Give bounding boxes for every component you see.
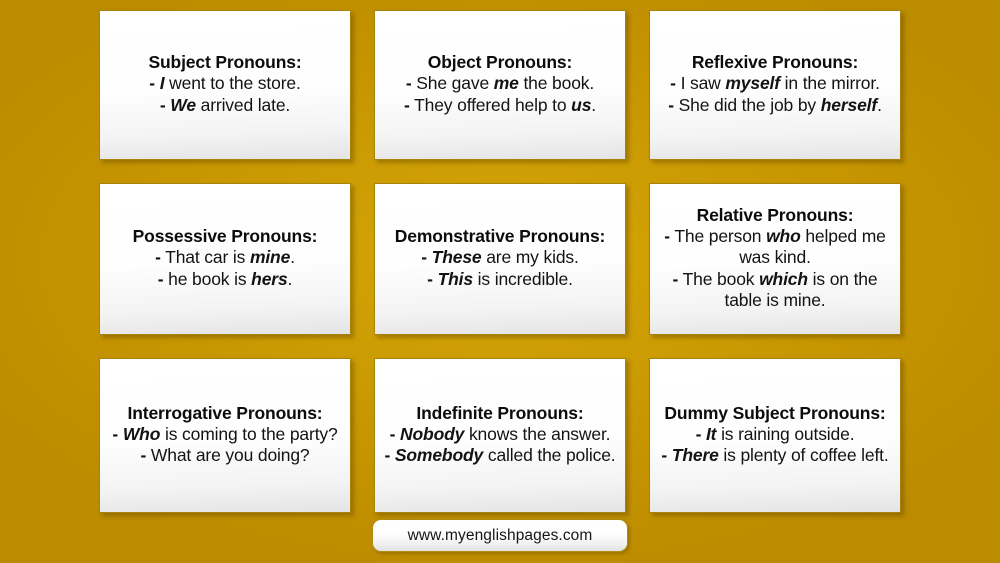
card-title: Reflexive Pronouns: — [692, 52, 858, 72]
card-example-line: - Nobody knows the answer. — [382, 424, 618, 445]
bullet-dash: - — [670, 73, 676, 93]
card-example-line: - She gave me the book. — [382, 73, 618, 94]
example-text: is coming to the party? — [160, 424, 337, 444]
emphasized-pronoun: us — [571, 95, 591, 115]
bullet-dash: - — [158, 269, 164, 289]
card-example-line: - I saw myself in the mirror. — [657, 73, 893, 94]
bullet-dash: - — [421, 247, 427, 267]
pronoun-card-subject-pronouns: Subject Pronouns:- I went to the store.-… — [99, 10, 351, 160]
example-text: is incredible. — [473, 269, 573, 289]
example-text: . — [877, 95, 882, 115]
emphasized-pronoun: mine — [250, 247, 290, 267]
example-text: . — [288, 269, 293, 289]
card-example-list: - I saw myself in the mirror.- She did t… — [657, 73, 893, 115]
card-title: Indefinite Pronouns: — [416, 403, 583, 423]
example-text: She gave — [416, 73, 493, 93]
bullet-dash: - — [155, 247, 161, 267]
example-text: he book is — [168, 269, 251, 289]
example-text: arrived late. — [196, 95, 290, 115]
pronoun-card-possessive-pronouns: Possessive Pronouns:- That car is mine.-… — [99, 183, 351, 335]
pronoun-card-indefinite-pronouns: Indefinite Pronouns:- Nobody knows the a… — [374, 358, 626, 513]
card-example-line: - We arrived late. — [107, 95, 343, 116]
bullet-dash: - — [661, 445, 667, 465]
example-text: The book — [683, 269, 759, 289]
card-example-line: - I went to the store. — [107, 73, 343, 94]
example-text: is raining outside. — [716, 424, 854, 444]
emphasized-pronoun: These — [432, 247, 482, 267]
example-text: called the police. — [483, 445, 615, 465]
emphasized-pronoun: This — [438, 269, 473, 289]
example-text: She did the job by — [679, 95, 821, 115]
example-text: That car is — [165, 247, 250, 267]
bullet-dash: - — [149, 73, 155, 93]
pronouns-infographic: Subject Pronouns:- I went to the store.-… — [0, 0, 1000, 563]
example-text: knows the answer. — [464, 424, 610, 444]
example-text: went to the store. — [164, 73, 300, 93]
bullet-dash: - — [696, 424, 702, 444]
card-example-line: - She did the job by herself. — [657, 95, 893, 116]
card-example-line: - he book is hers. — [107, 269, 343, 290]
card-title: Relative Pronouns: — [697, 205, 854, 225]
pronoun-card-dummy-subject-pronouns: Dummy Subject Pronouns:- It is raining o… — [649, 358, 901, 513]
bullet-dash: - — [160, 95, 166, 115]
card-title: Demonstrative Pronouns: — [395, 226, 605, 246]
bullet-dash: - — [427, 269, 433, 289]
card-title: Dummy Subject Pronouns: — [664, 403, 885, 423]
example-text: . — [290, 247, 295, 267]
website-url-banner: www.myenglishpages.com — [372, 519, 628, 552]
card-example-line: - The person who helped me was kind. — [657, 226, 893, 268]
emphasized-pronoun: myself — [725, 73, 780, 93]
emphasized-pronoun: herself — [821, 95, 877, 115]
example-text: I saw — [681, 73, 726, 93]
pronoun-card-reflexive-pronouns: Reflexive Pronouns:- I saw myself in the… — [649, 10, 901, 160]
bullet-dash: - — [673, 269, 679, 289]
pronoun-card-object-pronouns: Object Pronouns:- She gave me the book.-… — [374, 10, 626, 160]
card-example-list: - She gave me the book.- They offered he… — [382, 73, 618, 115]
card-example-list: - Nobody knows the answer.- Somebody cal… — [382, 424, 618, 466]
bullet-dash: - — [112, 424, 118, 444]
emphasized-pronoun: We — [170, 95, 196, 115]
example-text: the book. — [519, 73, 594, 93]
card-title: Object Pronouns: — [428, 52, 572, 72]
card-example-line: - The book which is on the table is mine… — [657, 269, 893, 311]
pronoun-card-interrogative-pronouns: Interrogative Pronouns:- Who is coming t… — [99, 358, 351, 513]
example-text: They offered help to — [414, 95, 571, 115]
card-example-list: - Who is coming to the party?- What are … — [107, 424, 343, 466]
card-example-line: - Who is coming to the party? — [107, 424, 343, 445]
card-title: Possessive Pronouns: — [133, 226, 318, 246]
card-example-line: - It is raining outside. — [657, 424, 893, 445]
card-title: Interrogative Pronouns: — [128, 403, 323, 423]
emphasized-pronoun: Nobody — [400, 424, 464, 444]
emphasized-pronoun: There — [672, 445, 719, 465]
bullet-dash: - — [384, 445, 390, 465]
example-text: The person — [674, 226, 766, 246]
emphasized-pronoun: Who — [123, 424, 160, 444]
bullet-dash: - — [140, 445, 146, 465]
card-example-list: - The person who helped me was kind.- Th… — [657, 226, 893, 311]
emphasized-pronoun: Somebody — [395, 445, 483, 465]
card-title: Subject Pronouns: — [148, 52, 301, 72]
bullet-dash: - — [406, 73, 412, 93]
example-text: in the mirror. — [780, 73, 880, 93]
bullet-dash: - — [390, 424, 396, 444]
example-text: . — [591, 95, 596, 115]
example-text: What are you doing? — [151, 445, 310, 465]
website-url-text: www.myenglishpages.com — [408, 527, 593, 545]
example-text: is plenty of coffee left. — [719, 445, 889, 465]
emphasized-pronoun: who — [766, 226, 801, 246]
emphasized-pronoun: hers — [251, 269, 287, 289]
card-example-line: - Somebody called the police. — [382, 445, 618, 466]
example-text: are my kids. — [481, 247, 578, 267]
card-example-list: - It is raining outside.- There is plent… — [657, 424, 893, 466]
card-example-line: - There is plenty of coffee left. — [657, 445, 893, 466]
card-example-line: - These are my kids. — [382, 247, 618, 268]
emphasized-pronoun: which — [759, 269, 808, 289]
card-example-line: - This is incredible. — [382, 269, 618, 290]
card-example-line: - What are you doing? — [107, 445, 343, 466]
emphasized-pronoun: me — [494, 73, 519, 93]
card-example-line: - That car is mine. — [107, 247, 343, 268]
card-example-list: - These are my kids.- This is incredible… — [382, 247, 618, 289]
pronoun-card-relative-pronouns: Relative Pronouns:- The person who helpe… — [649, 183, 901, 335]
emphasized-pronoun: It — [706, 424, 716, 444]
card-example-list: - I went to the store.- We arrived late. — [107, 73, 343, 115]
card-example-line: - They offered help to us. — [382, 95, 618, 116]
bullet-dash: - — [404, 95, 410, 115]
pronoun-card-grid: Subject Pronouns:- I went to the store.-… — [99, 10, 903, 515]
bullet-dash: - — [668, 95, 674, 115]
bullet-dash: - — [664, 226, 670, 246]
card-example-list: - That car is mine.- he book is hers. — [107, 247, 343, 289]
pronoun-card-demonstrative-pronouns: Demonstrative Pronouns:- These are my ki… — [374, 183, 626, 335]
